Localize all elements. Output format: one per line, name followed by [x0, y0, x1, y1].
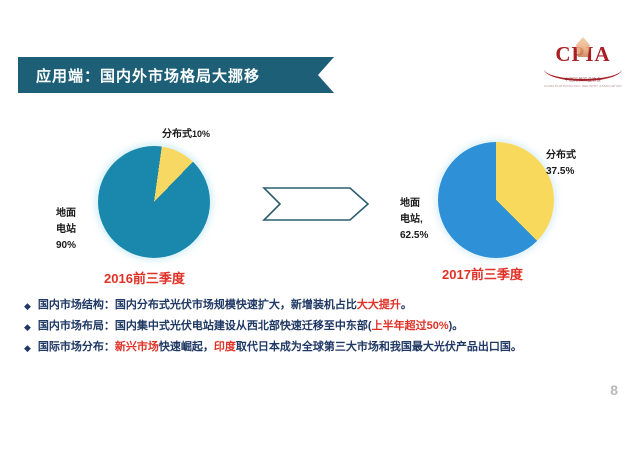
- bullet-segment: 国内市场结构：国内分布式光伏市场规模快速扩大，新增装机占比: [38, 299, 357, 311]
- pie-left-distributed-value: 10%: [192, 129, 210, 139]
- pie-left-caption: 2016前三季度: [104, 268, 185, 287]
- pie-left-distributed-label: 分布式10%: [162, 127, 210, 142]
- page-title: 应用端：国内外市场格局大挪移: [36, 65, 260, 86]
- pie-chart-2017: 分布式 37.5% 地面 电站, 62.5% 2017前三季度: [398, 128, 628, 293]
- bullet-highlight: 新兴市场: [115, 341, 159, 353]
- pie-right-distributed-value: 37.5%: [546, 164, 576, 180]
- chevron-right-icon: [262, 186, 370, 222]
- bullet-text: 国内市场结构：国内分布式光伏市场规模快速扩大，新增装机占比大大提升。: [38, 298, 412, 313]
- logo-mark: CPIA: [540, 40, 626, 70]
- pie-left-ground-value: 90%: [56, 238, 76, 254]
- bullet-text: 国际市场分布：新兴市场快速崛起，印度取代日本成为全球第三大市场和我国最大光伏产品…: [38, 340, 522, 355]
- pie-left-ground-label: 地面 电站 90%: [56, 206, 76, 254]
- logo-english-name: CHINA PHOTOVOLTAIC INDUSTRY ASSOCIATION: [540, 84, 626, 88]
- bullet-item: ◆国内市场布局：国内集中式光伏电站建设从西北部快速迁移至中东部(上半年超过50%…: [24, 319, 624, 335]
- bullet-highlight: 大大提升: [357, 299, 401, 311]
- page-number: 8: [610, 382, 618, 398]
- bullet-highlight: 印度: [214, 341, 236, 353]
- bullet-marker-icon: ◆: [24, 319, 31, 335]
- bullet-segment: 取代日本成为全球第三大市场和我国最大光伏产品出口国。: [236, 341, 522, 353]
- bullet-segment: 国际市场分布：: [38, 341, 115, 353]
- bullet-list: ◆国内市场结构：国内分布式光伏市场规模快速扩大，新增装机占比大大提升。◆国内市场…: [24, 298, 624, 361]
- bullet-marker-icon: ◆: [24, 340, 31, 356]
- pie-right-caption: 2017前三季度: [442, 264, 523, 283]
- slide-canvas: 应用端：国内外市场格局大挪移 CPIA 中国光伏行业协会 CHINA PHOTO…: [0, 0, 640, 453]
- bullet-highlight: 上半年超过50%: [372, 320, 449, 332]
- bullet-segment: 快速崛起，: [159, 341, 214, 353]
- cpia-logo: CPIA 中国光伏行业协会 CHINA PHOTOVOLTAIC INDUSTR…: [540, 40, 626, 92]
- pie-left-ground-line1: 地面: [56, 206, 76, 222]
- pie-chart-2016: 分布式10% 地面 电站 90% 2016前三季度: [56, 128, 286, 293]
- bullet-segment: 。: [401, 299, 412, 311]
- bullet-text: 国内市场布局：国内集中式光伏电站建设从西北部快速迁移至中东部(上半年超过50%)…: [38, 319, 463, 334]
- pie-right-ground-value: 62.5%: [400, 228, 428, 244]
- logo-chinese-name: 中国光伏行业协会: [542, 77, 624, 83]
- title-banner-notch: [318, 57, 334, 93]
- bullet-segment: 国内市场布局：国内集中式光伏电站建设从西北部快速迁移至中东部(: [38, 320, 372, 332]
- pie-right-distributed-label: 分布式 37.5%: [546, 148, 576, 180]
- pie-left-distributed-name: 分布式: [162, 129, 192, 140]
- bullet-item: ◆国际市场分布：新兴市场快速崛起，印度取代日本成为全球第三大市场和我国最大光伏产…: [24, 340, 624, 356]
- pie-right-graphic: [438, 142, 554, 258]
- pie-right-ground-line1: 地面: [400, 196, 428, 212]
- bullet-marker-icon: ◆: [24, 298, 31, 314]
- pie-right-ground-line2: 电站,: [400, 212, 428, 228]
- pie-right-ground-label: 地面 电站, 62.5%: [400, 196, 428, 244]
- pie-left-ground-line2: 电站: [56, 222, 76, 238]
- title-banner: 应用端：国内外市场格局大挪移: [18, 57, 318, 93]
- pie-left-graphic: [98, 146, 210, 258]
- bullet-item: ◆国内市场结构：国内分布式光伏市场规模快速扩大，新增装机占比大大提升。: [24, 298, 624, 314]
- pie-right-distributed-name: 分布式: [546, 148, 576, 164]
- bullet-segment: )。: [449, 320, 464, 332]
